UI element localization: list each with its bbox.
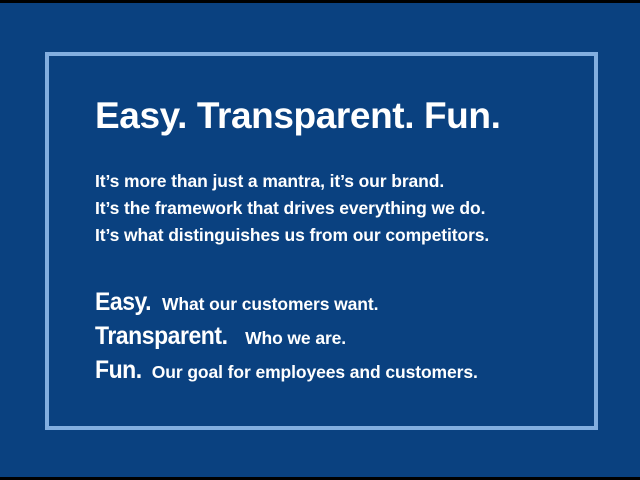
pillar-keyword: Easy. <box>95 287 151 317</box>
pillar-keyword: Fun. <box>95 355 142 385</box>
slide-content: Easy. Transparent. Fun. It’s more than j… <box>95 96 565 389</box>
letterbox-top <box>0 0 640 3</box>
pillar-item-fun: Fun.Our goal for employees and customers… <box>95 355 565 389</box>
pillar-description: Who we are. <box>239 328 346 348</box>
intro-paragraph: It’s more than just a mantra, it’s our b… <box>95 136 565 249</box>
pillar-list: Easy.What our customers want. Transparen… <box>95 249 565 389</box>
paragraph-line: It’s what distinguishes us from our comp… <box>95 222 565 249</box>
pillar-item-easy: Easy.What our customers want. <box>95 287 565 321</box>
paragraph-line: It’s the framework that drives everythin… <box>95 195 565 222</box>
paragraph-line: It’s more than just a mantra, it’s our b… <box>95 168 565 195</box>
slide-headline: Easy. Transparent. Fun. <box>95 96 565 136</box>
presentation-slide: Easy. Transparent. Fun. It’s more than j… <box>0 0 640 480</box>
pillar-keyword: Transparent. <box>95 321 228 351</box>
pillar-description: Our goal for employees and customers. <box>146 362 478 382</box>
pillar-description: What our customers want. <box>156 294 378 314</box>
pillar-item-transparent: Transparent.Who we are. <box>95 321 565 355</box>
